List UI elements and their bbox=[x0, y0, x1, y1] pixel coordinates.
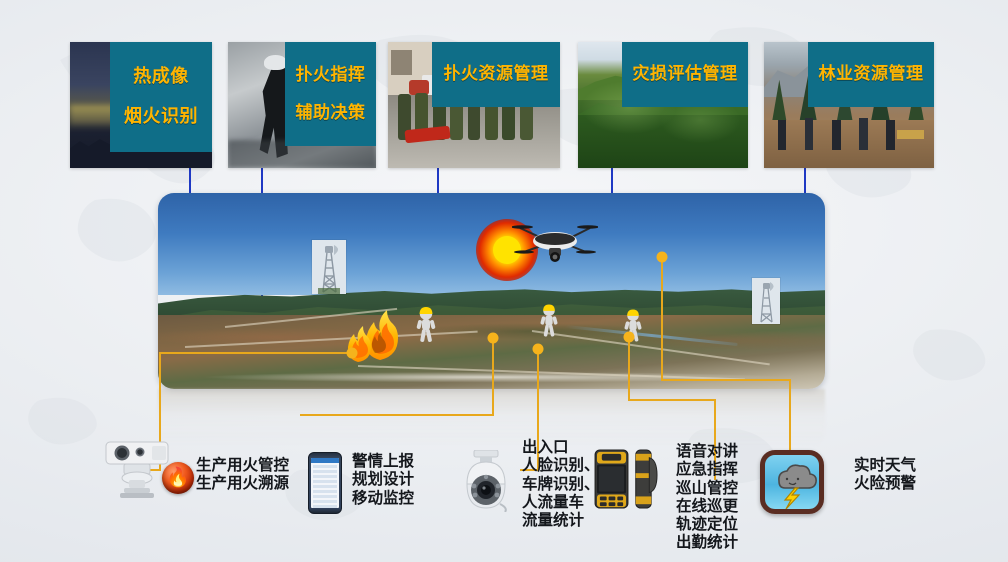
label-line-1: 扑火资源管理 bbox=[439, 65, 553, 84]
card-label-fire-resources: 扑火资源管理 bbox=[432, 42, 560, 107]
phone-screen bbox=[311, 458, 339, 508]
list-item bbox=[313, 495, 337, 498]
label-line-2: 烟火识别 bbox=[117, 107, 205, 127]
list-item bbox=[313, 505, 337, 508]
card-label-thermal-smoke: 热成像 烟火识别 bbox=[110, 42, 212, 152]
list-item bbox=[313, 485, 337, 488]
list-item bbox=[313, 475, 337, 478]
wildfire-flames bbox=[344, 306, 404, 362]
label-weather-station: 实时天气 火险预警 bbox=[854, 456, 916, 493]
monitoring-tower-right[interactable] bbox=[752, 278, 780, 324]
flame-glyph: 🔥 bbox=[166, 469, 190, 488]
ptz-dome-camera[interactable] bbox=[458, 450, 514, 512]
monitoring-tower-left[interactable] bbox=[312, 240, 346, 294]
label-line-2: 辅助决策 bbox=[292, 104, 369, 123]
rugged-handheld-terminal[interactable] bbox=[592, 448, 662, 510]
mobile-app-phone[interactable] bbox=[308, 452, 342, 514]
label-thermal-camera: 生产用火管控 生产用火溯源 bbox=[196, 456, 289, 493]
label-mobile-phone: 警情上报 规划设计 移动监控 bbox=[352, 452, 414, 507]
label-line-1: 热成像 bbox=[117, 67, 205, 87]
weather-forecast-icon[interactable] bbox=[760, 450, 824, 514]
diagram-canvas: 热成像 烟火识别 扑火指挥 辅助决策 bbox=[0, 0, 1008, 562]
card-fire-command[interactable]: 扑火指挥 辅助决策 bbox=[228, 42, 376, 168]
patrol-worker-3[interactable] bbox=[622, 309, 644, 343]
patrol-worker-2[interactable] bbox=[538, 304, 560, 338]
patrol-worker-1[interactable] bbox=[414, 307, 438, 343]
card-label-fire-command: 扑火指挥 辅助决策 bbox=[285, 42, 376, 146]
card-label-forestry-resources: 林业资源管理 bbox=[808, 42, 934, 107]
label-ptz-camera: 出入口 人脸识别、 车牌识别、 人流量车 流量统计 bbox=[522, 438, 600, 529]
card-thermal-smoke[interactable]: 热成像 烟火识别 bbox=[70, 42, 212, 168]
uav-drone[interactable] bbox=[512, 216, 598, 264]
terrain-reflection bbox=[158, 389, 825, 449]
card-damage-assessment[interactable]: 灾损评估管理 bbox=[578, 42, 748, 168]
card-label-damage-assessment: 灾损评估管理 bbox=[622, 42, 748, 107]
card-fire-resources[interactable]: 扑火资源管理 bbox=[388, 42, 560, 168]
list-item bbox=[313, 465, 337, 468]
label-line-1: 扑火指挥 bbox=[292, 66, 369, 85]
list-item bbox=[313, 480, 337, 483]
list-item bbox=[313, 470, 337, 473]
fire-alarm-icon: 🔥 bbox=[162, 462, 194, 494]
card-forestry-resources[interactable]: 林业资源管理 bbox=[764, 42, 934, 168]
list-item bbox=[313, 490, 337, 493]
terrain-3d-scene[interactable] bbox=[158, 193, 825, 389]
label-line-1: 林业资源管理 bbox=[815, 65, 927, 84]
label-line-1: 灾损评估管理 bbox=[629, 65, 741, 84]
list-item bbox=[313, 500, 337, 503]
app-header-bar bbox=[311, 458, 339, 463]
label-rugged-terminal: 语音对讲 应急指挥 巡山管控 在线巡更 轨迹定位 出勤统计 bbox=[676, 442, 738, 552]
